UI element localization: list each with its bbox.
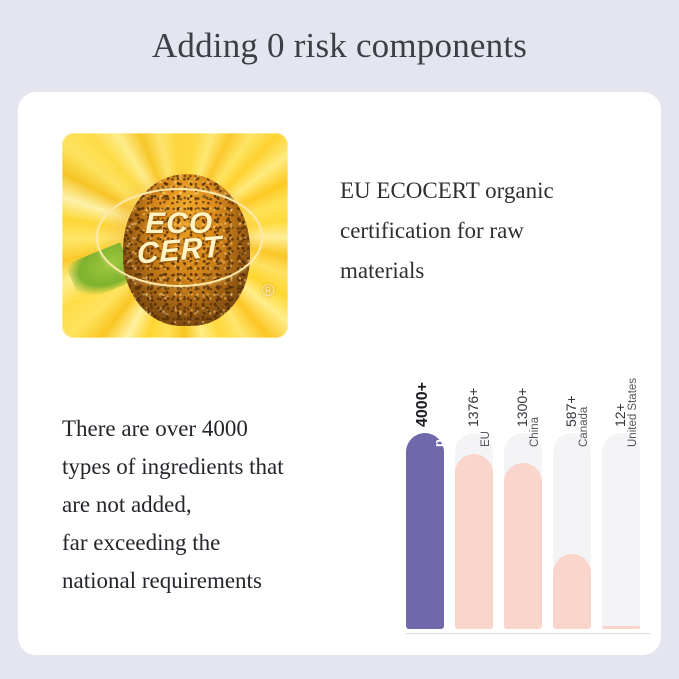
certification-text-line-1: EU ECOCERT organic xyxy=(340,171,640,211)
ecocert-oval-badge: ECO CERT xyxy=(96,188,263,286)
bar-column: nenneko4000+ xyxy=(406,433,444,629)
body-line-3: are not added, xyxy=(62,486,392,524)
bar-column: Canada587+ xyxy=(553,433,591,629)
registered-trademark-icon: ® xyxy=(262,281,275,301)
bar-value-label: 1376+ xyxy=(455,365,493,427)
bar-value-label: 4000+ xyxy=(406,365,444,427)
ecocert-badge-text: ECO CERT xyxy=(98,190,261,284)
body-line-1: There are over 4000 xyxy=(62,410,392,448)
certification-text-line-3: materials xyxy=(340,251,640,291)
content-card: ECO CERT ® EU ECOCERT organic certificat… xyxy=(18,92,661,655)
bar-value-label: 12+ xyxy=(602,365,640,427)
bar-track xyxy=(406,433,444,629)
ecocert-logo-image: ECO CERT ® xyxy=(62,133,288,338)
bar-track xyxy=(602,433,640,629)
restricted-ingredients-bar-chart: nenneko4000+EU1376+China1300+Canada587+U… xyxy=(390,364,648,634)
bar-column: China1300+ xyxy=(504,433,542,629)
ecocert-badge-line2: CERT xyxy=(137,234,222,269)
certification-row: ECO CERT ® EU ECOCERT organic certificat… xyxy=(62,133,642,348)
page-title: Adding 0 risk components xyxy=(0,26,679,66)
bar-column: United States12+ xyxy=(602,433,640,629)
bar-column: EU1376+ xyxy=(455,433,493,629)
bar-value-label: 587+ xyxy=(553,365,591,427)
body-line-2: types of ingredients that xyxy=(62,448,392,486)
bar-fill xyxy=(455,454,493,629)
bar-fill xyxy=(504,463,542,629)
certification-text-line-2: certification for raw xyxy=(340,211,640,251)
certification-text: EU ECOCERT organic certification for raw… xyxy=(340,171,640,291)
bar-fill xyxy=(602,626,640,629)
body-line-4: far exceeding the xyxy=(62,524,392,562)
chart-plot-area: nenneko4000+EU1376+China1300+Canada587+U… xyxy=(390,364,648,634)
bar-value-label: 1300+ xyxy=(504,365,542,427)
chart-baseline xyxy=(406,633,650,634)
body-line-5: national requirements xyxy=(62,562,392,600)
body-paragraph: There are over 4000 types of ingredients… xyxy=(62,410,392,600)
bar-fill xyxy=(553,554,591,629)
